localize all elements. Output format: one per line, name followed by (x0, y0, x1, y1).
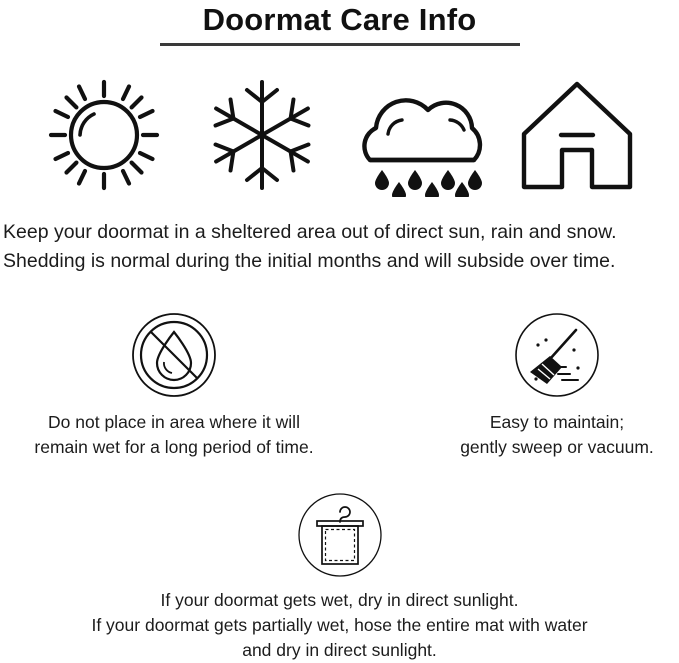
caption-line-2: gently sweep or vacuum. (392, 435, 679, 460)
house-icon (512, 72, 642, 197)
title-block: Doormat Care Info (0, 0, 679, 46)
care-item-no-water-caption: Do not place in area where it will remai… (9, 410, 339, 460)
care-item-sweep-caption: Easy to maintain; gently sweep or vacuum… (392, 410, 679, 460)
intro-line-2: Shedding is normal during the initial mo… (3, 247, 679, 276)
title-underline-rule (160, 43, 520, 46)
caption-line-1: Easy to maintain; (392, 410, 679, 435)
caption-line-1: Do not place in area where it will (9, 410, 339, 435)
broom-icon-wrap (392, 312, 679, 402)
care-item-no-water: Do not place in area where it will remai… (9, 312, 339, 460)
rain-cloud-icon (352, 72, 497, 197)
broom-icon (514, 312, 600, 398)
sun-icon (44, 72, 164, 197)
snowflake-icon (202, 72, 322, 197)
drying-caption: If your doormat gets wet, dry in direct … (0, 588, 679, 663)
no-water-icon-wrap (9, 312, 339, 402)
caption-line-3: and dry in direct sunlight. (0, 638, 679, 663)
care-items-section: Do not place in area where it will remai… (0, 312, 679, 472)
caption-line-1: If your doormat gets wet, dry in direct … (0, 588, 679, 613)
hang-to-dry-icon (297, 492, 383, 578)
weather-icon-row (0, 72, 679, 197)
caption-line-2: If your doormat gets partially wet, hose… (0, 613, 679, 638)
intro-line-1: Keep your doormat in a sheltered area ou… (3, 218, 679, 247)
caption-line-2: remain wet for a long period of time. (9, 435, 339, 460)
hang-to-dry-icon-wrap (0, 492, 679, 582)
page-title: Doormat Care Info (0, 0, 679, 38)
no-water-icon (131, 312, 217, 398)
care-item-sweep: Easy to maintain; gently sweep or vacuum… (392, 312, 679, 460)
drying-section: If your doormat gets wet, dry in direct … (0, 492, 679, 663)
intro-paragraph: Keep your doormat in a sheltered area ou… (3, 218, 679, 276)
